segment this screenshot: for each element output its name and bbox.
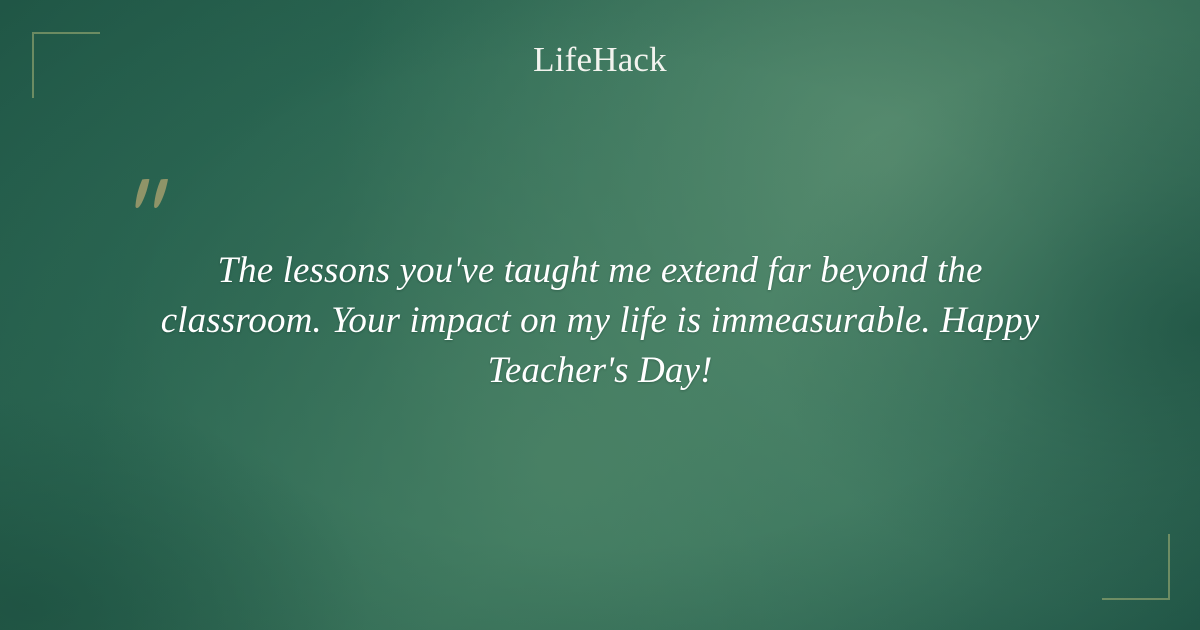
- quote-card: LifeHack The lessons you've taught me ex…: [0, 0, 1200, 630]
- quote-line-2: classroom. Your impact on my life is imm…: [100, 296, 1100, 346]
- corner-bracket-bottom-right-icon: [1102, 534, 1170, 600]
- quote-line-3: Teacher's Day!: [100, 346, 1100, 396]
- double-quote-icon: [128, 157, 184, 219]
- brand-logo: LifeHack: [0, 38, 1200, 82]
- quote-block: The lessons you've taught me extend far …: [100, 246, 1100, 396]
- quote-line-1: The lessons you've taught me extend far …: [100, 246, 1100, 296]
